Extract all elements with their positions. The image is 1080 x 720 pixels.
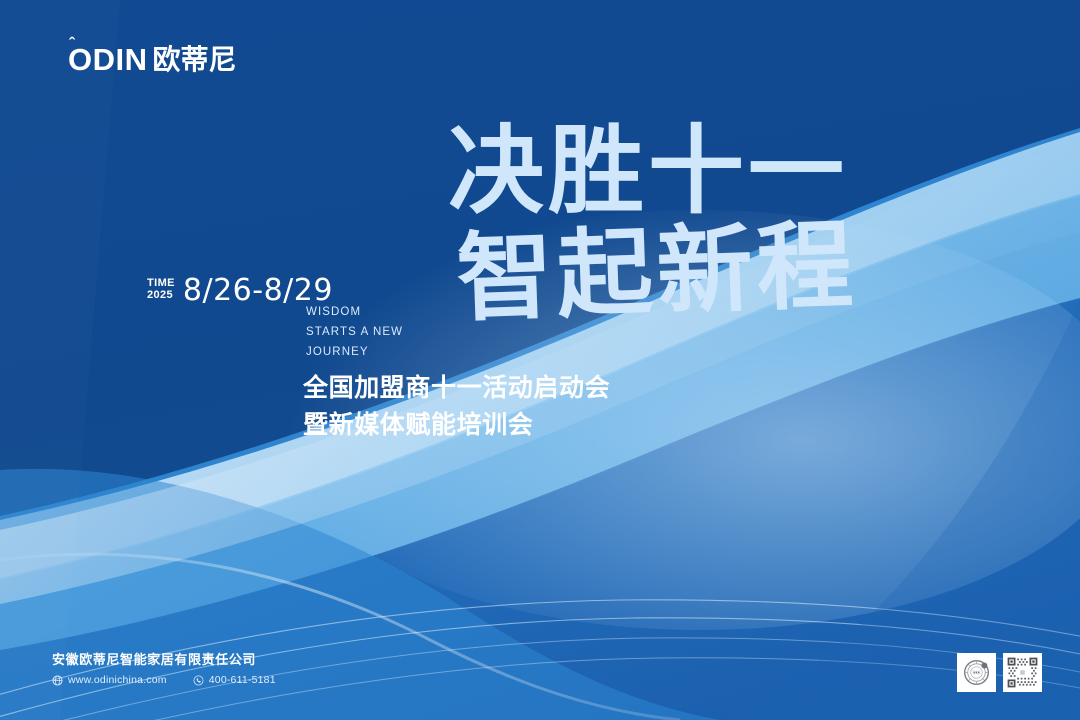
headline-calligraphy: 决胜十一 智起新程 xyxy=(440,112,910,342)
subtitle-line-2: 暨新媒体赋能培训会 xyxy=(303,407,610,444)
footer-phone-label: 400-611-5181 xyxy=(209,675,276,686)
footer-info: 安徽欧蒂尼智能家居有限责任公司 www.odinichina.com 400-6… xyxy=(52,653,276,686)
english-tagline: WISDOM STARTS A NEW JOURNEY xyxy=(306,302,403,362)
footer-company-name: 安徽欧蒂尼智能家居有限责任公司 xyxy=(52,653,276,666)
logo-chinese-label: 欧蒂尼 xyxy=(153,46,237,74)
footer-phone[interactable]: 400-611-5181 xyxy=(193,675,276,686)
footer-contact-row: www.odinichina.com 400-611-5181 xyxy=(52,675,276,686)
logo-latin-label: ODIN xyxy=(68,42,148,77)
tagline-line-2: STARTS A NEW xyxy=(306,322,403,342)
date-label-group: TIME 2025 xyxy=(147,278,175,303)
qr-code-icon xyxy=(1005,655,1040,690)
tagline-line-1: WISDOM xyxy=(306,302,403,322)
tagline-line-3: JOURNEY xyxy=(306,342,403,362)
wechat-qr-badge[interactable] xyxy=(1003,653,1042,692)
globe-icon xyxy=(52,675,63,686)
brand-logo: ˆ ODIN 欧蒂尼 xyxy=(68,44,237,75)
event-poster: ˆ ODIN 欧蒂尼 决胜十一 智起新程 TIME 2025 8/26-8/29… xyxy=(0,0,1080,720)
footer-website[interactable]: www.odinichina.com xyxy=(52,675,167,686)
event-subtitle: 全国加盟商十一活动启动会 暨新媒体赋能培训会 xyxy=(303,370,610,444)
phone-icon xyxy=(193,675,204,686)
company-seal-badge[interactable] xyxy=(957,653,996,692)
qr-badge-group xyxy=(957,653,1042,692)
logo-circumflex-accent: ˆ xyxy=(69,35,75,52)
date-label-year: 2025 xyxy=(147,290,175,302)
footer-website-label: www.odinichina.com xyxy=(68,675,167,686)
seal-icon xyxy=(959,655,994,690)
logo-latin-text: ˆ ODIN xyxy=(68,44,148,75)
subtitle-line-1: 全国加盟商十一活动启动会 xyxy=(303,370,610,407)
background-waves xyxy=(0,0,1080,720)
headline-line-2: 智起新程 xyxy=(455,208,859,335)
